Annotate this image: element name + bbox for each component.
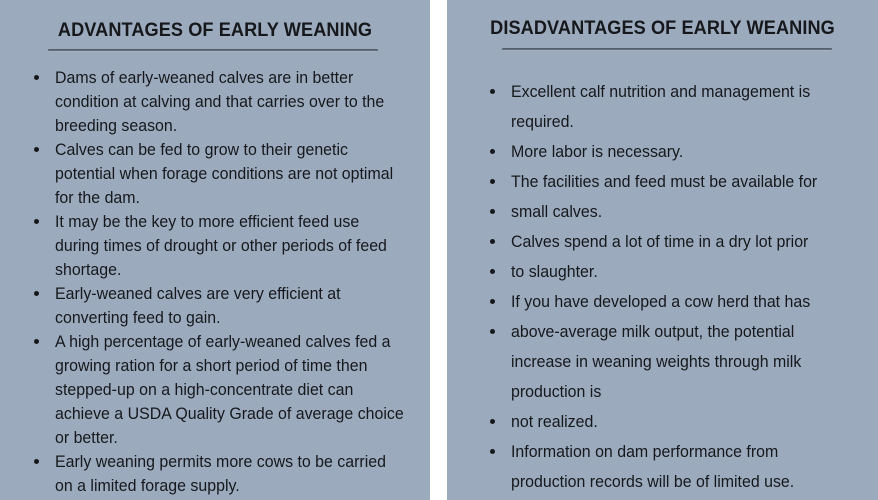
bullet-dot-icon (490, 149, 495, 154)
list-item: Early-weaned calves are very efficient a… (34, 282, 419, 330)
disadvantages-list: Excellent calf nutrition and management … (490, 77, 865, 497)
bullet-dot-icon (34, 75, 39, 80)
panel-divider-gap (430, 0, 447, 500)
list-item-text: Dams of early-weaned calves are in bette… (55, 66, 406, 138)
list-item-text: If you have developed a cow herd that ha… (511, 287, 853, 317)
advantages-title-divider (48, 49, 378, 52)
list-item: small calves. (490, 197, 865, 227)
list-item-text: More labor is necessary. (511, 137, 853, 167)
list-item-text: It may be the key to more efficient feed… (55, 210, 406, 282)
list-item: not realized. (490, 407, 865, 437)
list-item: Calves can be fed to grow to their genet… (34, 138, 419, 210)
bullet-dot-icon (490, 239, 495, 244)
bullet-dot-icon (490, 89, 495, 94)
list-item: Information on dam performance from prod… (490, 437, 865, 497)
disadvantages-panel: DISADVANTAGES OF EARLY WEANING Excellent… (447, 0, 878, 500)
list-item: to slaughter. (490, 257, 865, 287)
list-item-text: Calves can be fed to grow to their genet… (55, 138, 406, 210)
bullet-dot-icon (490, 449, 495, 454)
list-item: Early weaning permits more cows to be ca… (34, 450, 419, 498)
list-item-text: not realized. (511, 407, 853, 437)
disadvantages-title-divider (502, 48, 832, 51)
list-item: The facilities and feed must be availabl… (490, 167, 865, 197)
list-item-text: A high percentage of early-weaned calves… (55, 330, 406, 450)
list-item-text: Excellent calf nutrition and management … (511, 77, 853, 137)
list-item: Dams of early-weaned calves are in bette… (34, 66, 419, 138)
list-item-text: small calves. (511, 197, 853, 227)
advantages-list: Dams of early-weaned calves are in bette… (34, 66, 419, 500)
bullet-dot-icon (34, 339, 39, 344)
list-item: Calves spend a lot of time in a dry lot … (490, 227, 865, 257)
list-item: It may be the key to more efficient feed… (34, 210, 419, 282)
list-item: above-average milk output, the potential… (490, 317, 865, 407)
bullet-dot-icon (490, 419, 495, 424)
advantages-panel: ADVANTAGES OF EARLY WEANING Dams of earl… (0, 0, 430, 500)
list-item-text: above-average milk output, the potential… (511, 317, 853, 407)
bullet-dot-icon (490, 329, 495, 334)
list-item-text: The facilities and feed must be availabl… (511, 167, 853, 197)
advantages-panel-title: ADVANTAGES OF EARLY WEANING (15, 19, 415, 42)
bullet-dot-icon (490, 179, 495, 184)
disadvantages-panel-title: DISADVANTAGES OF EARLY WEANING (462, 17, 863, 40)
bullet-dot-icon (490, 209, 495, 214)
bullet-dot-icon (34, 291, 39, 296)
list-item-text: Early-weaned calves are very efficient a… (55, 282, 406, 330)
bullet-dot-icon (490, 299, 495, 304)
comparison-board: ADVANTAGES OF EARLY WEANING Dams of earl… (0, 0, 878, 500)
bullet-dot-icon (490, 269, 495, 274)
list-item-text: Information on dam performance from prod… (511, 437, 853, 497)
bullet-dot-icon (34, 459, 39, 464)
list-item: Excellent calf nutrition and management … (490, 77, 865, 137)
list-item: If you have developed a cow herd that ha… (490, 287, 865, 317)
list-item-text: Calves spend a lot of time in a dry lot … (511, 227, 853, 257)
list-item-text: to slaughter. (511, 257, 853, 287)
bullet-dot-icon (34, 219, 39, 224)
bullet-dot-icon (34, 147, 39, 152)
list-item-text: Early weaning permits more cows to be ca… (55, 450, 406, 498)
list-item: A high percentage of early-weaned calves… (34, 330, 419, 450)
list-item: More labor is necessary. (490, 137, 865, 167)
